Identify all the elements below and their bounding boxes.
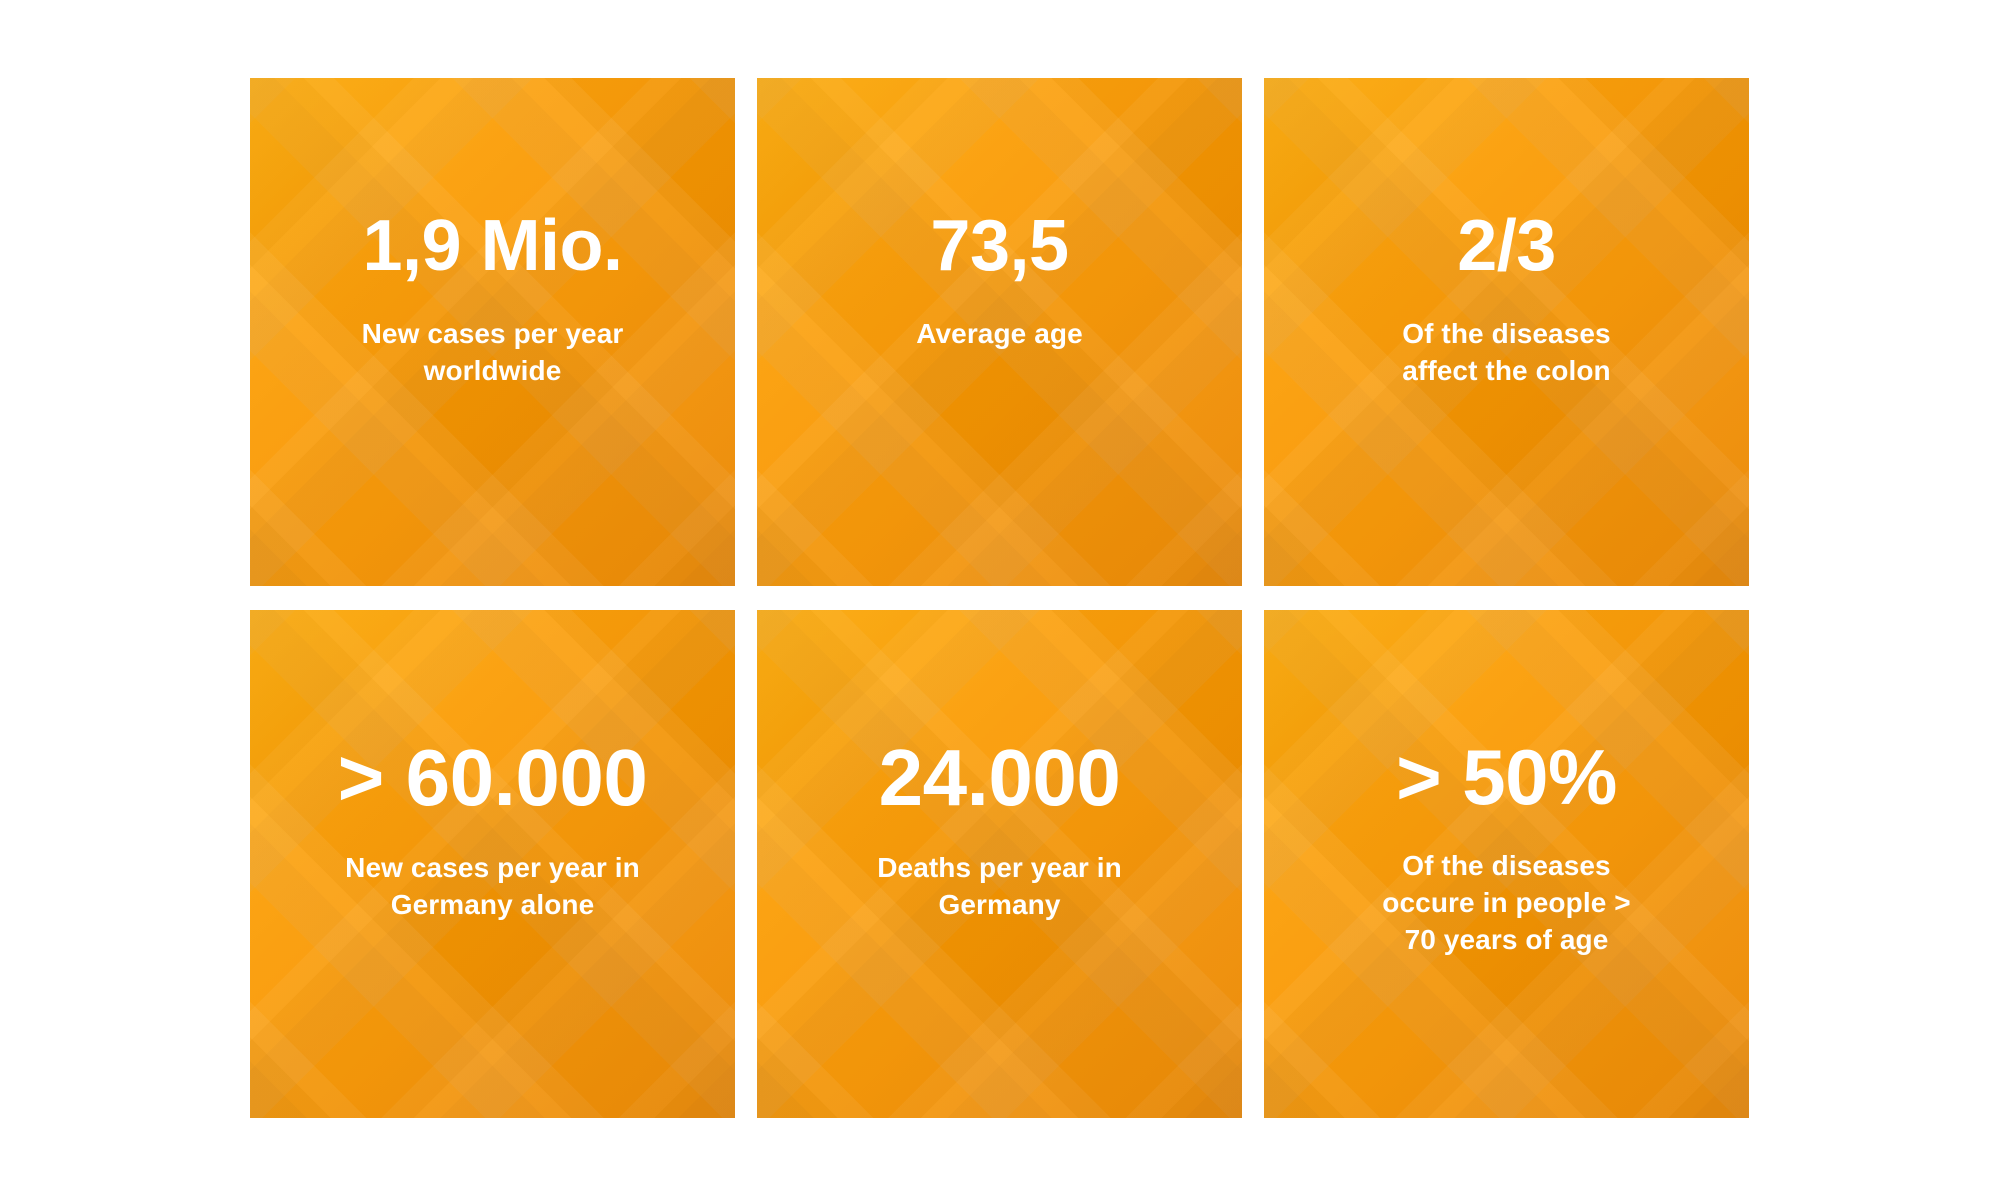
stat-label: New cases per year in Germany alone [323, 850, 663, 924]
stat-card-new-cases-worldwide: 1,9 Mio. New cases per year worldwide [250, 78, 735, 586]
stat-label: Of the diseases occure in people > 70 ye… [1382, 848, 1632, 959]
stat-card-content: 24.000 Deaths per year in Germany [757, 610, 1242, 1118]
stat-card-new-cases-germany: > 60.000 New cases per year in Germany a… [250, 610, 735, 1118]
stat-card-average-age: 73,5 Average age [757, 78, 1242, 586]
stat-number: 2/3 [1457, 210, 1556, 282]
statistics-grid: 1,9 Mio. New cases per year worldwide 73… [250, 78, 1750, 1118]
stat-label: Of the diseases affect the colon [1382, 316, 1632, 390]
stat-label: Average age [916, 316, 1083, 353]
stat-card-content: > 50% Of the diseases occure in people >… [1264, 610, 1749, 1118]
stat-number: > 50% [1396, 738, 1617, 816]
stat-number: 73,5 [930, 210, 1068, 282]
stat-label: Deaths per year in Germany [865, 850, 1135, 924]
stat-card-content: 2/3 Of the diseases affect the colon [1264, 78, 1749, 586]
stat-card-deaths-germany: 24.000 Deaths per year in Germany [757, 610, 1242, 1118]
stat-card-content: 1,9 Mio. New cases per year worldwide [250, 78, 735, 586]
stat-card-age-over-70: > 50% Of the diseases occure in people >… [1264, 610, 1749, 1118]
stat-card-content: > 60.000 New cases per year in Germany a… [250, 610, 735, 1118]
stat-number: 24.000 [879, 738, 1121, 818]
stat-card-colon-share: 2/3 Of the diseases affect the colon [1264, 78, 1749, 586]
stat-card-content: 73,5 Average age [757, 78, 1242, 586]
stat-number: > 60.000 [338, 738, 648, 818]
stat-number: 1,9 Mio. [362, 210, 622, 282]
stat-label: New cases per year worldwide [328, 316, 658, 390]
